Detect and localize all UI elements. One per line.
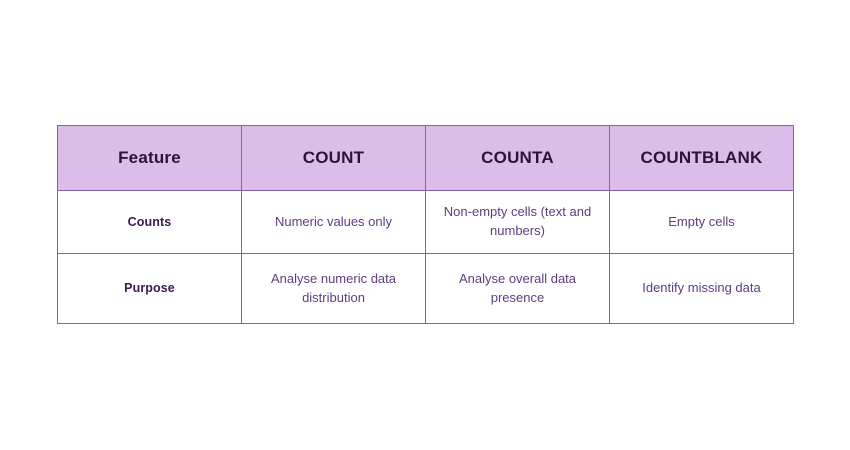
cell-purpose-count: Analyse numeric data distribution [242, 254, 426, 324]
column-header-counta: COUNTA [426, 126, 610, 191]
table-header: Feature COUNT COUNTA COUNTBLANK [58, 126, 794, 191]
table-header-row: Feature COUNT COUNTA COUNTBLANK [58, 126, 794, 191]
column-header-feature: Feature [58, 126, 242, 191]
column-header-countblank: COUNTBLANK [610, 126, 794, 191]
count-functions-comparison-table: Feature COUNT COUNTA COUNTBLANK Counts N… [57, 125, 794, 324]
table-row: Purpose Analyse numeric data distributio… [58, 254, 794, 324]
cell-purpose-countblank: Identify missing data [610, 254, 794, 324]
page-canvas: Feature COUNT COUNTA COUNTBLANK Counts N… [0, 0, 850, 450]
row-header-purpose: Purpose [58, 254, 242, 324]
table-body: Counts Numeric values only Non-empty cel… [58, 191, 794, 324]
cell-counts-countblank: Empty cells [610, 191, 794, 254]
column-header-count: COUNT [242, 126, 426, 191]
row-header-counts: Counts [58, 191, 242, 254]
cell-purpose-counta: Analyse overall data presence [426, 254, 610, 324]
table-row: Counts Numeric values only Non-empty cel… [58, 191, 794, 254]
cell-counts-count: Numeric values only [242, 191, 426, 254]
cell-counts-counta: Non-empty cells (text and numbers) [426, 191, 610, 254]
